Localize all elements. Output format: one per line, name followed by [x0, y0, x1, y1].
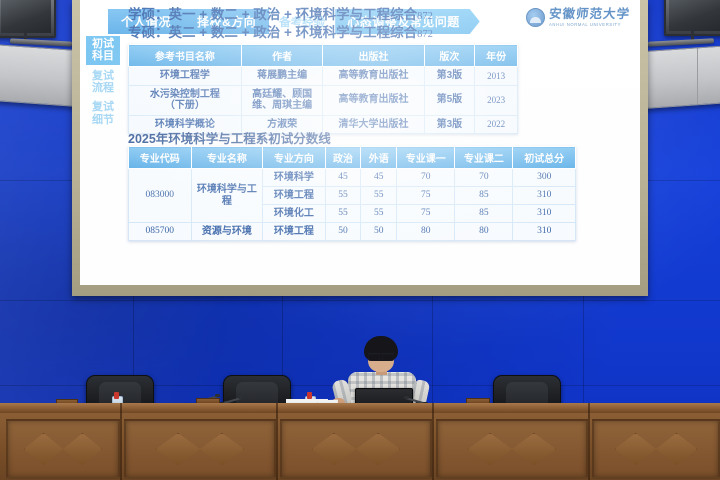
col-major-name: 专业名称 — [191, 147, 263, 169]
desk-panel-ornament — [615, 433, 697, 465]
subject-text: 专硕：英二 + 数二 + 政治 + 环境科学与工程综合 — [128, 25, 417, 40]
table-row: 水污染控制工程 （下册） 高廷耀、顾国维、周琪主编 高等教育出版社 第5版 20… — [129, 85, 518, 115]
subject-text: 学硕：英一 + 数二 + 政治 + 环境科学与工程综合 — [128, 7, 417, 22]
university-logo: 安徽师范大学 ANHUI NORMAL UNIVERSITY — [526, 8, 630, 27]
desk-seam — [276, 403, 278, 480]
cell-politics: 45 — [325, 169, 361, 187]
score-line-table: 专业代码 专业名称 专业方向 政治 外语 专业课一 专业课二 初试总分 0830 — [128, 146, 576, 241]
panel-seam — [697, 48, 698, 104]
table-header-row: 专业代码 专业名称 专业方向 政治 外语 专业课一 专业课二 初试总分 — [129, 147, 576, 169]
side-tab-line1: 复试 — [86, 101, 120, 113]
cell-major-direction: 环境工程 — [263, 187, 326, 205]
cell-major1: 75 — [397, 187, 455, 205]
desk-top-surface — [0, 403, 720, 413]
cell-foreign: 55 — [361, 205, 397, 223]
table-row: 083000 环境科学与工程 环境科学 45 45 70 70 300 — [129, 169, 576, 187]
col-year: 年份 — [475, 45, 518, 67]
monitor-screen — [669, 0, 720, 31]
cell-book-name: 环境工程学 — [129, 67, 242, 86]
university-name-cn: 安徽师范大学 — [548, 8, 630, 21]
university-name-en: ANHUI NORMAL UNIVERSITY — [549, 23, 630, 27]
cell-author: 高廷耀、顾国维、周琪主编 — [241, 85, 323, 115]
cell-total: 310 — [513, 187, 576, 205]
projection-screen-frame: 个人情况 择校&方向 备考经验 心态调整及常见问题 — [72, 0, 648, 296]
presentation-slide: 个人情况 择校&方向 备考经验 心态调整及常见问题 — [80, 0, 640, 285]
subject-code: 872 — [417, 11, 433, 22]
exam-subjects: 学硕：英一 + 数二 + 政治 + 环境科学与工程综合872 专硕：英二 + 数… — [128, 6, 433, 42]
col-major-direction: 专业方向 — [263, 147, 326, 169]
desk-panel — [280, 419, 432, 479]
score-section-title: 2025年环境科学与工程系初试分数线 — [128, 128, 331, 147]
wall-monitor-left — [0, 0, 56, 38]
reference-books-table: 参考书目名称 作者 出版社 版次 年份 环境工程学 蒋展鹏主编 高等教育出版社 — [128, 44, 518, 134]
subject-code: 872 — [417, 29, 433, 40]
cell-publisher: 清华大学出版社 — [323, 115, 424, 134]
side-tab-line2: 细节 — [86, 114, 120, 126]
desk-panel-ornament — [156, 433, 244, 465]
col-total-score: 初试总分 — [513, 147, 576, 169]
mic-head — [238, 396, 243, 399]
desk-panel — [124, 419, 276, 479]
cell-author: 蒋展鹏主编 — [241, 67, 323, 86]
side-tab-line1: 初试 — [86, 38, 120, 50]
cell-total: 310 — [513, 205, 576, 223]
cell-publisher: 高等教育出版社 — [323, 85, 424, 115]
desk-seam — [432, 403, 434, 480]
cell-major-name: 资源与环境 — [191, 223, 263, 241]
subject-line-professional: 专硕：英二 + 数二 + 政治 + 环境科学与工程综合872 — [128, 24, 433, 42]
university-emblem-icon — [526, 8, 545, 27]
mic-head — [404, 396, 409, 399]
col-major-course-2: 专业课二 — [455, 147, 513, 169]
col-major-course-1: 专业课一 — [397, 147, 455, 169]
desk-panel-ornament — [24, 433, 102, 465]
cell-foreign: 55 — [361, 187, 397, 205]
wall-seam — [0, 300, 720, 301]
cell-politics: 50 — [325, 223, 361, 241]
cell-edition: 第5版 — [424, 85, 475, 115]
cell-year: 2023 — [475, 85, 518, 115]
monitor-screen — [1, 0, 51, 33]
cell-major2: 85 — [455, 187, 513, 205]
cell-foreign: 50 — [361, 223, 397, 241]
cell-major1: 70 — [397, 169, 455, 187]
side-tab-line2: 流程 — [86, 82, 120, 94]
desk-front-body — [0, 413, 720, 480]
table-row: 085700 资源与环境 环境工程 50 50 80 80 310 — [129, 223, 576, 241]
cell-major1: 80 — [397, 223, 455, 241]
cell-publisher: 高等教育出版社 — [323, 67, 424, 86]
cell-major-direction: 环境化工 — [263, 205, 326, 223]
desk-panel — [6, 419, 120, 479]
desk-panel — [592, 419, 720, 479]
screenshot-root: 个人情况 择校&方向 备考经验 心态调整及常见问题 — [0, 0, 720, 480]
col-politics: 政治 — [325, 147, 361, 169]
cell-foreign: 45 — [361, 169, 397, 187]
podium-desk — [0, 403, 720, 480]
cell-politics: 55 — [325, 187, 361, 205]
cell-major-direction: 环境科学 — [263, 169, 326, 187]
cell-total: 310 — [513, 223, 576, 241]
bottle-cap — [307, 392, 312, 399]
cell-major-direction: 环境工程 — [263, 223, 326, 241]
table-header-row: 参考书目名称 作者 出版社 版次 年份 — [129, 45, 518, 67]
cell-total: 300 — [513, 169, 576, 187]
cell-year: 2022 — [475, 115, 518, 134]
cell-major1: 75 — [397, 205, 455, 223]
table-row: 环境工程学 蒋展鹏主编 高等教育出版社 第3版 2013 — [129, 67, 518, 86]
bottle-cap — [114, 392, 119, 399]
cell-edition: 第3版 — [424, 115, 475, 134]
side-tab-initial-exam[interactable]: 初试 科目 — [86, 36, 120, 65]
desk-panel-ornament — [468, 433, 556, 465]
cell-major2: 85 — [455, 205, 513, 223]
cell-year: 2013 — [475, 67, 518, 86]
cell-edition: 第3版 — [424, 67, 475, 86]
cell-major-code: 085700 — [129, 223, 192, 241]
side-tab-retest-detail[interactable]: 复试 细节 — [86, 99, 120, 128]
cell-major-name: 环境科学与工程 — [191, 169, 263, 223]
cell-book-name: 水污染控制工程 （下册） — [129, 85, 242, 115]
desk-seam — [120, 403, 122, 480]
col-author: 作者 — [241, 45, 323, 67]
col-foreign-language: 外语 — [361, 147, 397, 169]
desk-panel — [436, 419, 588, 479]
col-major-code: 专业代码 — [129, 147, 192, 169]
desk-seam — [588, 403, 590, 480]
subject-line-academic: 学硕：英一 + 数二 + 政治 + 环境科学与工程综合872 — [128, 6, 433, 24]
university-logo-text: 安徽师范大学 ANHUI NORMAL UNIVERSITY — [549, 8, 630, 27]
cell-politics: 55 — [325, 205, 361, 223]
slide-side-tabs: 初试 科目 复试 流程 复试 细节 — [86, 36, 120, 128]
desk-panel-ornament — [312, 433, 400, 465]
col-publisher: 出版社 — [323, 45, 424, 67]
side-tab-retest-process[interactable]: 复试 流程 — [86, 68, 120, 97]
side-tab-line2: 科目 — [86, 50, 120, 62]
side-tab-line1: 复试 — [86, 70, 120, 82]
col-book-name: 参考书目名称 — [129, 45, 242, 67]
cell-major2: 80 — [455, 223, 513, 241]
cell-major2: 70 — [455, 169, 513, 187]
glasses-icon — [368, 353, 394, 359]
col-edition: 版次 — [424, 45, 475, 67]
projection-screen: 个人情况 择校&方向 备考经验 心态调整及常见问题 — [80, 0, 640, 285]
cell-major-code: 083000 — [129, 169, 192, 223]
